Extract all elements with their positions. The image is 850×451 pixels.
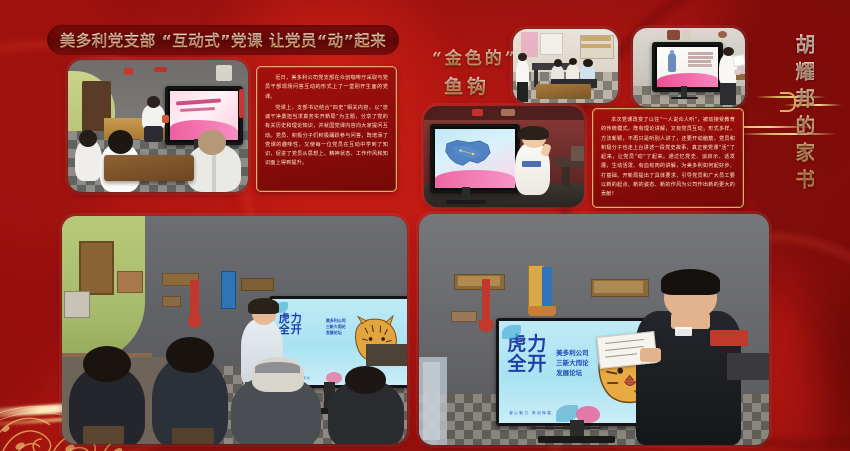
heading-vertical-huyaobang: 胡耀邦的家书 xyxy=(780,34,814,196)
photo-party-class-cafe xyxy=(68,60,248,192)
right-text-panel: 本次党课改变了以往“一人说众人听”，被动接受教育的传统模式，既有理论讲解，又有党… xyxy=(592,108,744,208)
right-paragraph-1: 本次党课改变了以往“一人说众人听”，被动接受教育的传统模式，既有理论讲解，又有党… xyxy=(601,116,735,199)
poster-canvas: 美多利党支部 “互动式”党课 让党员“动”起来 xyxy=(0,0,850,451)
photo-girl-map-screen xyxy=(424,106,584,207)
left-paragraph-2: 党课上，支部书记结合“四史”相关内容，以“忠诚干净勇担当求真务实开新局”为主题，… xyxy=(265,104,388,169)
photo-members-qa xyxy=(513,29,618,103)
left-paragraph-1: 近日，美多利公司党支部在众创咖啡厅采取与党员干部现场问答互动的形式上了一堂别开生… xyxy=(265,74,388,102)
heading-jinse: “金色的” xyxy=(432,44,518,69)
screen-tiger-title-large: 虎力 全开 xyxy=(507,335,547,374)
poster-headline-band: 美多利党支部 “互动式”党课 让党员“动”起来 xyxy=(47,25,399,55)
left-text-panel: 近日，美多利公司党支部在众创咖啡厅采取与党员干部现场问答互动的形式上了一堂别开生… xyxy=(256,66,397,192)
page-title: 美多利党支部 “互动式”党课 让党员“动”起来 xyxy=(60,29,387,51)
photo-forum-audience: 虎力 全开 美多利公司 三新大闯论 发展论坛 凝心聚力 再创辉煌 xyxy=(62,216,407,444)
screen-tiger-title: 虎力 全开 xyxy=(279,313,303,335)
photo-forum-speaker: 虎力 全开 美多利公司 三新大闯论 发展论坛 xyxy=(419,214,769,445)
screen-tiger-footer: 凝心聚力 再创辉煌 xyxy=(509,411,552,416)
heading-yugou: 鱼钩 xyxy=(444,72,490,99)
photo-speaker-presentation xyxy=(633,28,745,107)
